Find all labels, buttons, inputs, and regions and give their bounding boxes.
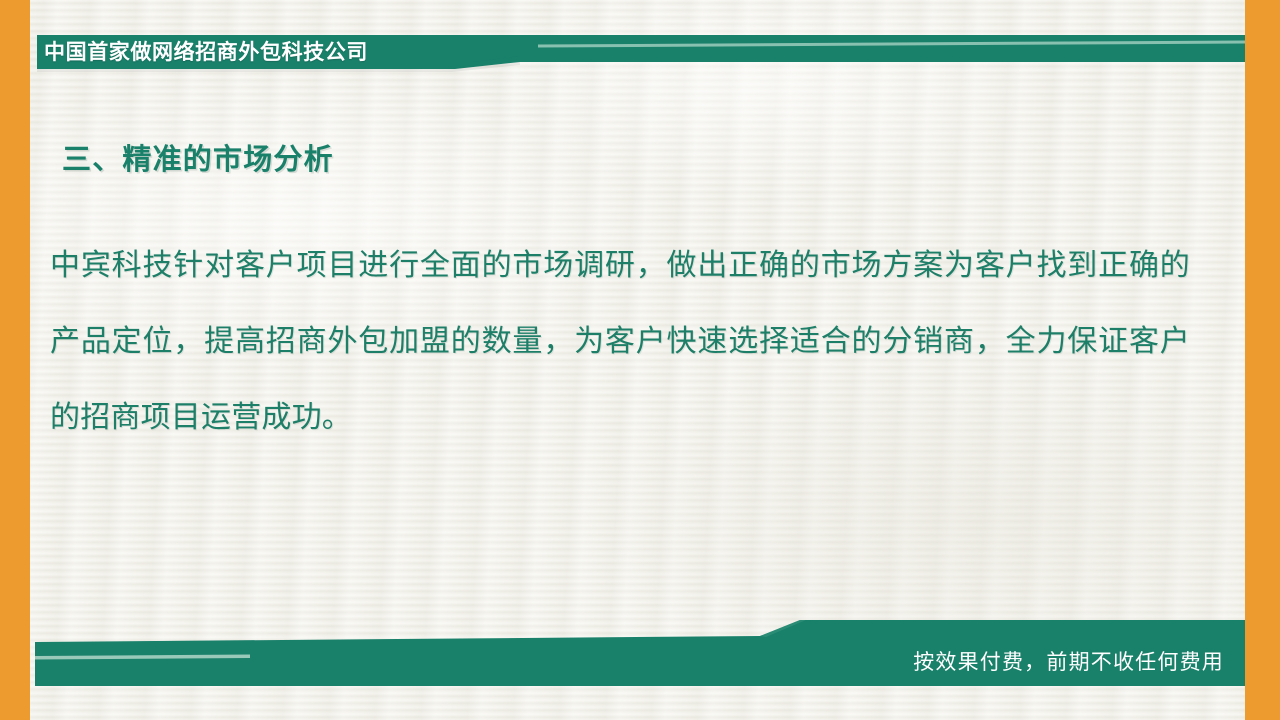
footer-slogan: 按效果付费，前期不收任何费用: [913, 648, 1224, 678]
header-company-title: 中国首家做网络招商外包科技公司: [44, 36, 368, 69]
body-paragraph: 中宾科技针对客户项目进行全面的市场调研，做出正确的市场方案为客户找到正确的产品定…: [50, 228, 1190, 456]
slide-root: 中国首家做网络招商外包科技公司 三、精准的市场分析 中宾科技针对客户项目进行全面…: [0, 0, 1280, 720]
section-heading: 三、精准的市场分析: [62, 136, 334, 178]
